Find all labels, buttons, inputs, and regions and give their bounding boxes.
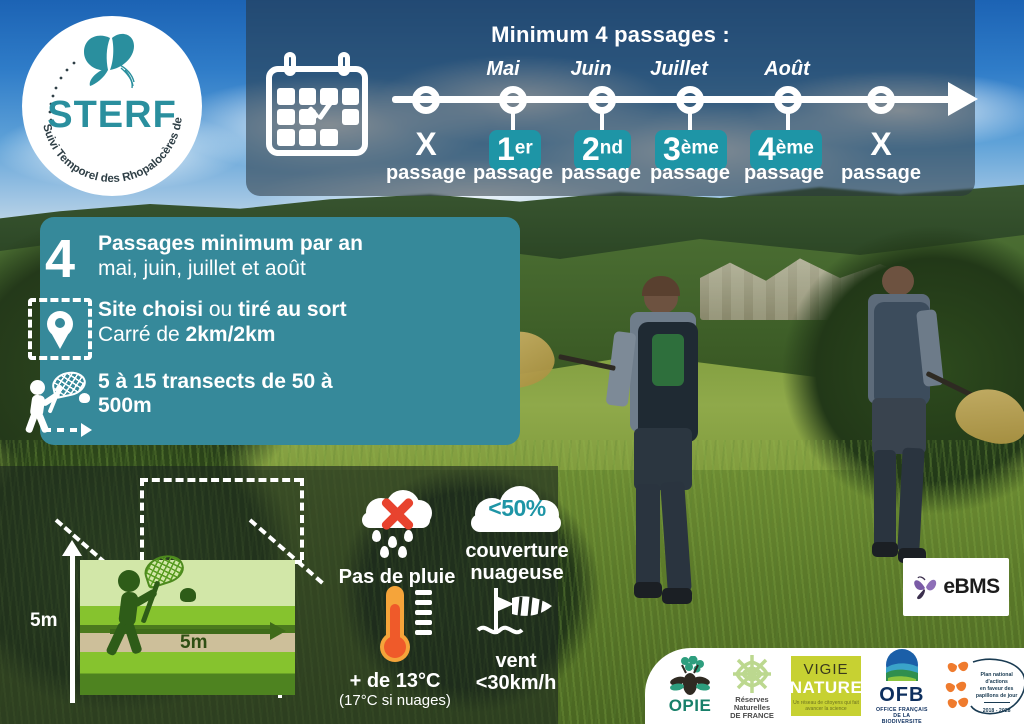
condition-no-rain: Pas de pluie [322,486,472,588]
partner-opie-label: OPIE [669,696,712,716]
protocol-row-transects: 5 à 15 transects de 50 à 500m [22,370,333,436]
web-icon [726,652,778,696]
condition-cloud-cover: <50% couverture nuageuse [452,484,582,584]
timeline-mark-0: X [366,126,486,163]
nature-label: NATURE [790,678,863,698]
sterf-logo: Suivi Temporel des Rhopalocères de Franc… [22,16,202,196]
timeline-badge-sup-3: ème [681,138,719,159]
timeline-arrowhead [948,82,978,116]
condition-wind: vent <30km/h [446,582,586,694]
cloud-percent-value: <50% [471,495,563,522]
transect-width-arrowhead [270,622,286,640]
condition-wind-label2: <30km/h [446,672,586,694]
transect-width-label: 5m [180,632,207,654]
transect-height-label: 5m [30,610,57,632]
cloud-percent-icon: <50% [471,484,563,534]
purple-butterfly-icon [912,574,940,600]
partner-rnf: RéservesNaturellesDE FRANCE [726,652,778,720]
partner-pna-label: Plan national d'actionsen faveur despapi… [969,672,1024,715]
ofb-circle-icon [882,648,922,684]
partner-pna: Plan national d'actionsen faveur despapi… [943,656,1024,716]
timeline-badge-sup-4: ème [776,138,814,159]
timeline-title: Minimum 4 passages : [246,22,975,48]
protocol-row2-line2: 500m [98,394,333,418]
no-rain-icon [360,486,434,530]
windsock-icon [474,582,558,648]
sterf-logo-name: STERF [22,94,202,137]
number-four-icon: 4 [22,232,98,286]
timeline-node-3[interactable] [676,86,704,114]
partner-logo-bar: OPIE RéservesNaturellesDE FRANCE VIGIE N… [645,648,1024,724]
timeline-node-2[interactable] [588,86,616,114]
timeline-badge-sup-2: nd [600,138,623,159]
timeline-node-5[interactable] [867,86,895,114]
timeline-caption-5: passage [821,162,941,185]
partner-ofb: OFB OFFICE FRANÇAISDE LA BIODIVERSITE [874,648,930,724]
map-pin-square-icon [22,298,98,360]
protocol-row0-line1: Passages minimum par an [98,232,363,256]
ebms-logo: eBMS [903,558,1009,616]
condition-temp-sub: (17°C si nuages) [320,692,470,709]
protocol-row2-line1: 5 à 15 transects de 50 à [98,370,333,394]
vigie-label: VIGIE [803,661,848,678]
hiker-left [608,276,758,646]
timeline-month-3: Juillet [619,58,739,81]
vigie-tagline: Un réseau de citoyens qui fait avancer l… [791,700,861,712]
transect-height-arrowhead [62,540,82,556]
timeline-month-4: Août [727,58,847,81]
condition-wind-label1: vent [446,650,586,672]
infographic-root: Minimum 4 passages : X passage Mai 1er p… [0,0,1024,724]
protocol-row-passages: 4 Passages minimum par an mai, juin, jui… [22,232,363,286]
protocol-row1-line2: Carré de 2km/2km [98,322,347,347]
timeline-badge-sup-1: er [515,138,533,159]
protocol-row0-line2: mai, juin, juillet et août [98,256,363,281]
ebms-label: eBMS [943,575,999,599]
calendar-check-icon [266,52,372,160]
partner-rnf-label: RéservesNaturellesDE FRANCE [730,696,774,720]
partner-ofb-sub: OFFICE FRANÇAISDE LA BIODIVERSITE [874,707,930,724]
walker-with-net-icon [22,370,98,436]
transect-height-arrow [70,553,75,703]
partner-ofb-label: OFB [879,684,924,707]
timeline-node-4[interactable] [774,86,802,114]
condition-cloud-label1: couverture [452,540,582,562]
beetle-icon [667,656,713,696]
protocol-row1-line1: Site choisi ou tiré au sort [98,298,347,322]
person-with-net-icon [108,570,178,660]
condition-cloud-label2: nuageuse [452,562,582,584]
thermometer-icon [378,586,412,664]
timeline-mark-5: X [821,126,941,163]
protocol-row-site: Site choisi ou tiré au sort Carré de 2km… [22,298,347,360]
timeline-node-0[interactable] [412,86,440,114]
timeline-node-1[interactable] [499,86,527,114]
partner-opie: OPIE [667,656,713,716]
partner-vigie-nature: VIGIE NATURE Un réseau de citoyens qui f… [791,656,861,716]
